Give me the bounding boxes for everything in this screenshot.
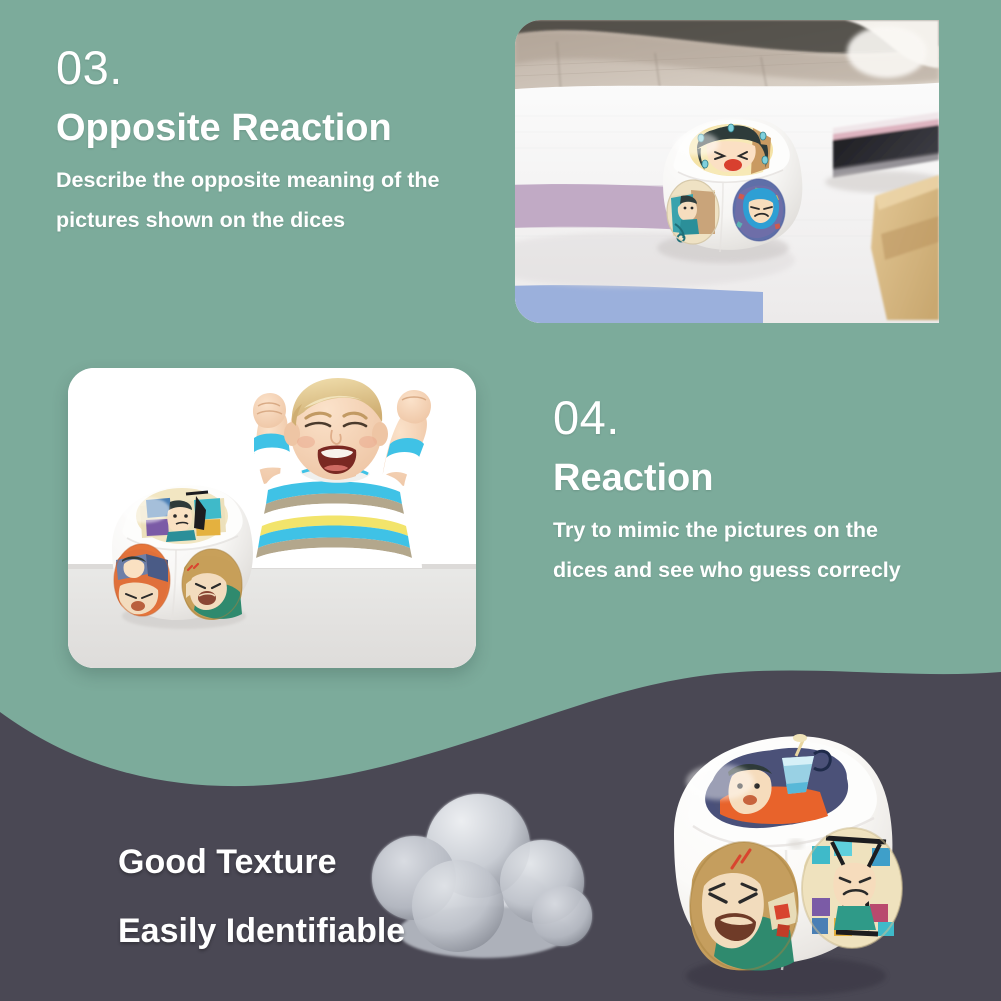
- step-04-description: Try to mimic the pictures on the dices a…: [553, 511, 983, 591]
- cloud-graphic-svg: [366, 786, 656, 976]
- step-04-text-block: 04. Reaction Try to mimic the pictures o…: [553, 394, 983, 590]
- shouting-boy: [246, 378, 431, 568]
- dice-face-blue-hood: [733, 179, 785, 241]
- cloud-graphic: [366, 786, 656, 976]
- step-03-text-block: 03. Opposite Reaction Describe the oppos…: [56, 44, 526, 240]
- texture-banner: Good Texture Easily Identifiable: [118, 845, 405, 948]
- photo-shouting-boy-image: [68, 368, 476, 668]
- step-03-description-line-2: pictures shown on the dices: [56, 201, 526, 241]
- photo-dice-closeup-image: [636, 726, 936, 1001]
- step-04-title: Reaction: [553, 459, 983, 499]
- dice-on-towel: [657, 117, 802, 263]
- dice-face-teal-scene: [667, 180, 719, 244]
- texture-banner-line-2: Easily Identifiable: [118, 914, 405, 948]
- dice-face-orange-scene: [114, 544, 170, 616]
- infographic-canvas: 03. Opposite Reaction Describe the oppos…: [0, 0, 1001, 1001]
- dice-face-yawning: [182, 549, 242, 620]
- step-03-description: Describe the opposite meaning of the pic…: [56, 161, 526, 241]
- dice-face-shouting: [690, 842, 798, 971]
- step-03-title: Opposite Reaction: [56, 109, 526, 149]
- step-03-description-line-1: Describe the opposite meaning of the: [56, 161, 526, 201]
- photo-dice-on-towel: [515, 20, 939, 323]
- photo-dice-on-towel-image: [515, 20, 939, 323]
- photo-shouting-boy: [68, 368, 476, 668]
- photo-dice-closeup: [636, 726, 936, 1001]
- dice-face-swing: [802, 828, 902, 948]
- step-04-number: 04.: [553, 394, 983, 441]
- step-03-number: 03.: [56, 44, 526, 91]
- dice-with-boy: [112, 485, 253, 629]
- texture-banner-line-1: Good Texture: [118, 845, 405, 879]
- step-04-description-line-2: dices and see who guess correcly: [553, 551, 983, 591]
- step-04-description-line-1: Try to mimic the pictures on the: [553, 511, 983, 551]
